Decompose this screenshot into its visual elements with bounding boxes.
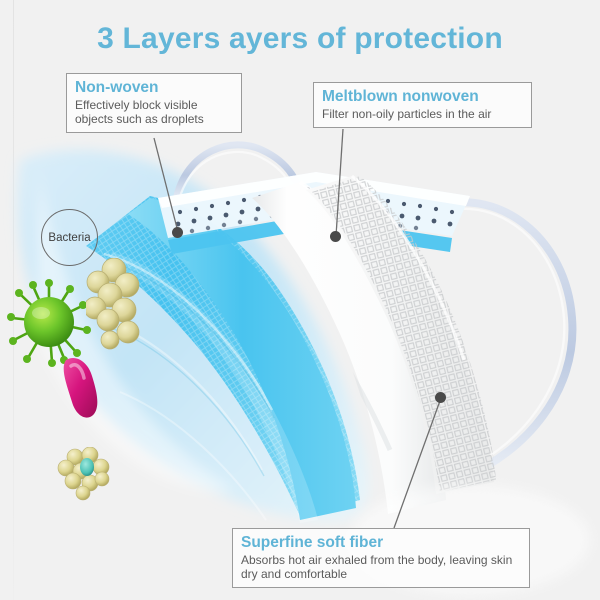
callout-superfine-soft-fiber: Superfine soft fiber Absorbs hot air exh…	[232, 528, 530, 588]
callout-non-woven: Non-woven Effectively block visible obje…	[66, 73, 242, 133]
pointer-dot-non-woven	[172, 227, 183, 238]
bacillus-rod-icon	[54, 352, 114, 422]
callout-superfine-heading: Superfine soft fiber	[241, 534, 522, 551]
pointer-dot-superfine	[435, 392, 446, 403]
bacteria-label-circle: Bacteria	[41, 209, 98, 266]
callout-non-woven-body: Effectively block visible objects such a…	[75, 98, 234, 126]
pointer-dot-meltblown	[330, 231, 341, 242]
callout-meltblown-body: Filter non-oily particles in the air	[322, 107, 524, 121]
bacteria-label-text: Bacteria	[48, 232, 90, 244]
page-title: 3 Layers ayers of protection	[0, 22, 600, 56]
callout-meltblown-heading: Meltblown nonwoven	[322, 88, 524, 105]
callout-non-woven-heading: Non-woven	[75, 79, 234, 96]
cocci-cluster-lower-icon	[57, 447, 117, 503]
callout-meltblown-nonwoven: Meltblown nonwoven Filter non-oily parti…	[313, 82, 532, 128]
callout-superfine-body: Absorbs hot air exhaled from the body, l…	[241, 553, 522, 581]
cocci-cluster-upper-icon	[86, 258, 142, 350]
illustration-page: Bacteria 3 Layers ayers of protection No…	[0, 0, 600, 600]
